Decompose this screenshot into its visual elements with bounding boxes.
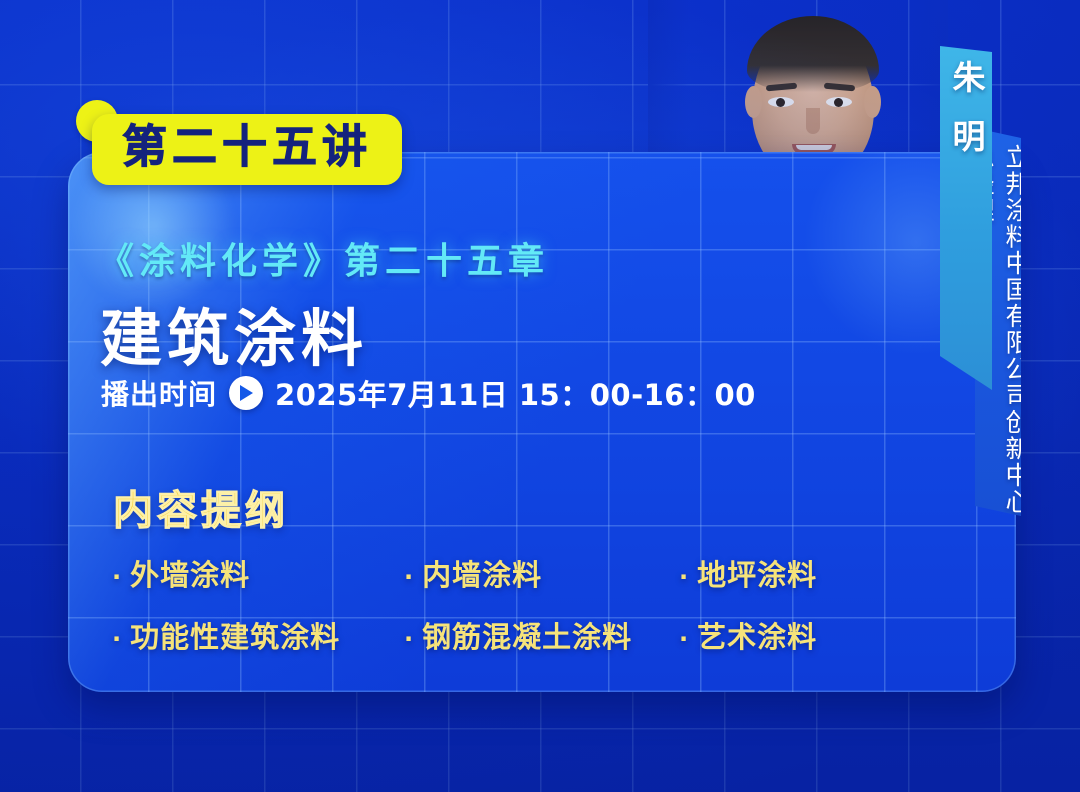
outline-heading: 内容提纲 — [113, 478, 289, 536]
bullet-icon: · — [404, 625, 414, 653]
list-item-label: 外墙涂料 — [130, 558, 250, 592]
list-item: ·内墙涂料 — [404, 552, 679, 594]
speaker-name-ribbon: 朱明 — [940, 46, 992, 390]
bullet-icon: · — [404, 563, 414, 591]
list-item-label: 艺术涂料 — [697, 620, 817, 654]
list-item-label: 地坪涂料 — [697, 558, 817, 592]
broadcast-time-value: 2025年7月11日 15：00-16：00 — [275, 372, 756, 414]
speaker-name: 朱明 — [942, 60, 990, 178]
bullet-icon: · — [679, 625, 689, 653]
badge-pill: 第二十五讲 — [92, 114, 402, 185]
bullet-icon: · — [679, 563, 689, 591]
bullet-icon: · — [112, 625, 122, 653]
bullet-icon: · — [112, 563, 122, 591]
list-item-label: 钢筋混凝土涂料 — [422, 620, 632, 654]
list-item-label: 功能性建筑涂料 — [130, 620, 340, 654]
list-item: ·艺术涂料 — [679, 614, 902, 656]
list-item: ·地坪涂料 — [679, 552, 902, 594]
list-item-label: 内墙涂料 — [422, 558, 542, 592]
list-item: ·外墙涂料 — [112, 552, 404, 594]
play-icon[interactable] — [229, 376, 263, 410]
list-item: ·钢筋混凝土涂料 — [404, 614, 679, 656]
outline-list: ·外墙涂料 ·内墙涂料 ·地坪涂料 ·功能性建筑涂料 ·钢筋混凝土涂料 ·艺术涂… — [112, 552, 902, 656]
broadcast-time-row: 播出时间 2025年7月11日 15：00-16：00 — [101, 372, 756, 414]
page-title: 建筑涂料 — [100, 288, 368, 378]
badge-label: 第二十五讲 — [122, 120, 372, 173]
broadcast-time-label: 播出时间 — [101, 373, 217, 413]
list-item: ·功能性建筑涂料 — [112, 614, 404, 656]
promo-poster: 第二十五讲 《涂料化学》第二十五章 建筑涂料 播出时间 2025年7月11日 1… — [0, 0, 1080, 792]
course-subtitle: 《涂料化学》第二十五章 — [98, 232, 549, 284]
